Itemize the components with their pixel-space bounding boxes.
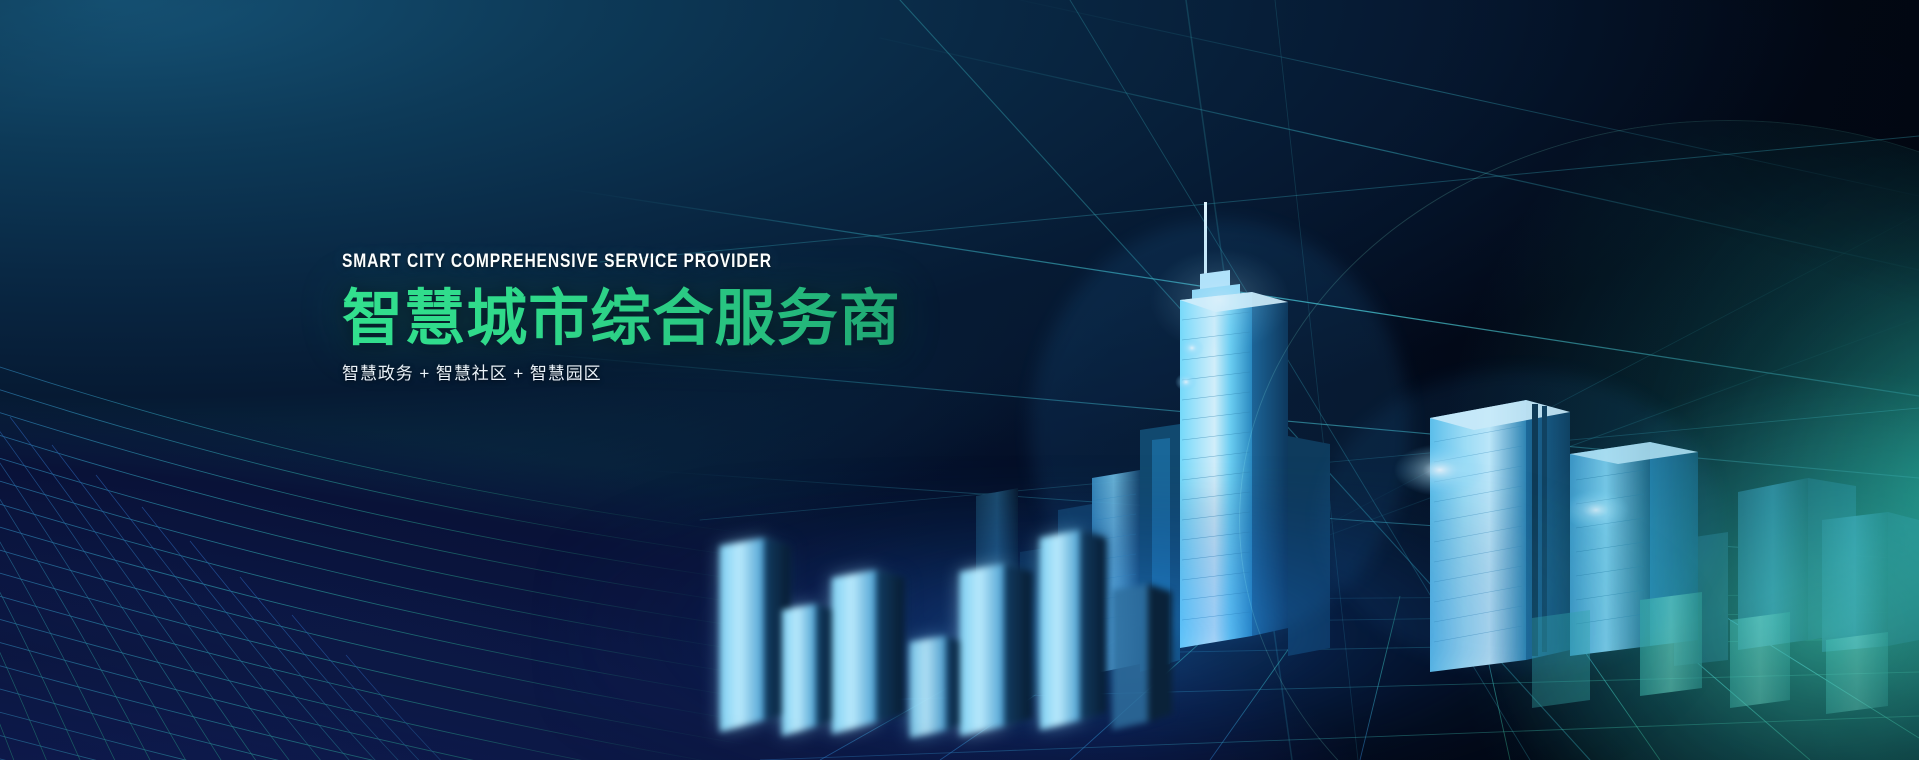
- banner-eyebrow-english: SMART CITY COMPREHENSIVE SERVICE PROVIDE…: [342, 252, 902, 272]
- banner-subline-services: 智慧政务 + 智慧社区 + 智慧园区: [342, 365, 1042, 382]
- banner-text-block: SMART CITY COMPREHENSIVE SERVICE PROVIDE…: [342, 252, 1042, 382]
- smart-city-banner: SMART CITY COMPREHENSIVE SERVICE PROVIDE…: [0, 0, 1919, 760]
- banner-headline-chinese: 智慧城市综合服务商: [342, 286, 1042, 351]
- green-light-sweep-lower: [1279, 270, 1919, 760]
